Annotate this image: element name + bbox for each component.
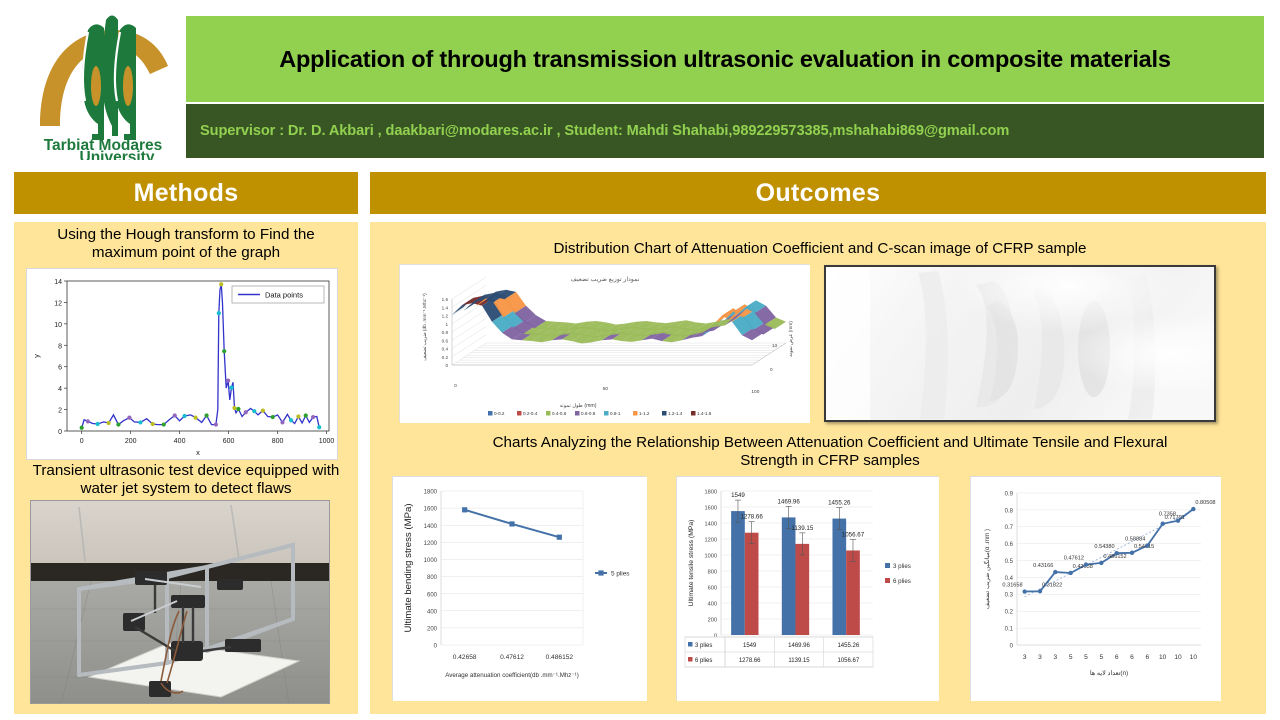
svg-text:10: 10 [1190, 654, 1198, 661]
svg-text:0.43166: 0.43166 [1033, 563, 1053, 569]
cscan-image [824, 265, 1216, 422]
outcomes-caption-distribution: Distribution Chart of Attenuation Coeffi… [380, 240, 1260, 258]
svg-text:5 plies: 5 plies [611, 571, 629, 578]
tensile-stress-chart: 0200400600800100012001400160018001549146… [676, 476, 938, 700]
svg-text:1: 1 [445, 322, 448, 327]
svg-text:5: 5 [1069, 654, 1073, 661]
svg-text:0.6: 0.6 [1005, 542, 1014, 548]
svg-text:0.6-0.8: 0.6-0.8 [581, 411, 596, 416]
svg-text:0.31822: 0.31822 [1042, 582, 1062, 588]
svg-text:5: 5 [1084, 654, 1088, 661]
svg-text:14: 14 [54, 279, 62, 286]
svg-text:3: 3 [1053, 654, 1057, 661]
svg-text:1455.26: 1455.26 [837, 643, 859, 649]
svg-text:0.7358: 0.7358 [1159, 512, 1176, 518]
svg-text:0.54615: 0.54615 [1134, 544, 1154, 550]
section-title-methods: Methods [134, 179, 239, 208]
svg-text:1200: 1200 [424, 541, 438, 547]
svg-text:12: 12 [54, 300, 62, 307]
svg-text:0.54380: 0.54380 [1094, 544, 1114, 550]
svg-text:1469.96: 1469.96 [788, 643, 810, 649]
svg-text:ضریب تضعیف (db .mm⁻¹.Mhz⁻¹): ضریب تضعیف (db .mm⁻¹.Mhz⁻¹) [422, 293, 428, 361]
svg-text:0.2-0.4: 0.2-0.4 [523, 411, 538, 416]
svg-text:1400: 1400 [705, 521, 717, 527]
svg-text:0.486152: 0.486152 [546, 654, 574, 661]
svg-text:2: 2 [58, 408, 62, 415]
svg-text:0.8-1: 0.8-1 [610, 411, 621, 416]
methods-caption-device: Transient ultrasonic test device equippe… [16, 462, 356, 498]
poster-header: Tarbiat Modares University Application o… [0, 0, 1280, 162]
svg-text:200: 200 [427, 626, 438, 632]
svg-text:0.4: 0.4 [1005, 576, 1014, 582]
svg-text:50: 50 [603, 386, 609, 392]
svg-text:600: 600 [427, 592, 438, 598]
section-header-methods: Methods [14, 172, 358, 214]
svg-text:1139.15: 1139.15 [791, 525, 813, 532]
svg-text:0.8: 0.8 [442, 330, 449, 335]
svg-text:10: 10 [1174, 654, 1182, 661]
svg-text:1000: 1000 [705, 553, 717, 559]
svg-text:0: 0 [80, 438, 84, 445]
svg-text:0: 0 [58, 429, 62, 436]
svg-text:0.2: 0.2 [1005, 610, 1014, 616]
svg-text:0.4: 0.4 [442, 347, 449, 352]
svg-text:1469.96: 1469.96 [777, 498, 800, 505]
svg-text:6: 6 [58, 365, 62, 372]
svg-text:0: 0 [454, 383, 457, 389]
svg-text:0.9: 0.9 [1005, 491, 1014, 497]
svg-text:1800: 1800 [705, 489, 717, 495]
svg-text:0-0.2: 0-0.2 [494, 411, 505, 416]
svg-text:Ultimate tensile stress (MPa): Ultimate tensile stress (MPa) [688, 520, 695, 607]
svg-text:1056.67: 1056.67 [842, 531, 865, 538]
svg-text:x: x [196, 448, 200, 457]
svg-text:0: 0 [770, 367, 773, 372]
section-title-outcomes: Outcomes [756, 179, 881, 208]
svg-text:0.80508: 0.80508 [1195, 500, 1215, 506]
hough-transform-chart: 0246810121402004006008001000xyData point… [26, 268, 338, 460]
svg-text:10: 10 [1159, 654, 1167, 661]
svg-text:1056.67: 1056.67 [837, 658, 859, 664]
svg-text:0: 0 [445, 363, 448, 368]
attenuation-distribution-surface-chart: نمودار توزيع ضريب تضعيف00.20.40.60.811.2… [399, 264, 809, 422]
outcomes-caption-relationship: Charts Analyzing the Relationship Betwee… [480, 434, 1180, 470]
svg-text:1.2: 1.2 [442, 314, 449, 319]
svg-text:y: y [32, 354, 41, 358]
svg-text:1200: 1200 [705, 537, 717, 543]
svg-text:عرض نمونه (mm): عرض نمونه (mm) [788, 321, 794, 357]
svg-text:1278.66: 1278.66 [739, 658, 761, 664]
svg-text:100: 100 [751, 389, 759, 395]
svg-text:3: 3 [1038, 654, 1042, 661]
svg-text:0.47612: 0.47612 [1064, 556, 1084, 562]
cscan-image-svg [826, 267, 1216, 422]
svg-text:6: 6 [1145, 654, 1149, 661]
tensile-chart-svg: 0200400600800100012001400160018001549146… [677, 477, 939, 701]
section-header-outcomes: Outcomes [370, 172, 1266, 214]
svg-text:0.1: 0.1 [1005, 627, 1014, 633]
svg-text:1800: 1800 [424, 490, 438, 496]
svg-text:1000: 1000 [424, 558, 438, 564]
svg-text:6 plies: 6 plies [893, 578, 911, 585]
svg-text:0.2: 0.2 [442, 355, 449, 360]
svg-text:0.42658: 0.42658 [1073, 564, 1093, 570]
svg-text:1139.15: 1139.15 [788, 658, 810, 664]
atten-chart-svg: 00.10.20.30.40.50.60.70.80.90.316580.318… [971, 477, 1221, 701]
svg-text:1600: 1600 [705, 505, 717, 511]
svg-text:نمودار توزيع ضريب تضعيف: نمودار توزيع ضريب تضعيف [571, 276, 640, 283]
svg-text:0.7: 0.7 [1005, 525, 1014, 531]
svg-text:6 plies: 6 plies [695, 658, 712, 664]
svg-text:میانگین ضریب تضعیف(α .mm ): میانگین ضریب تضعیف(α .mm ) [983, 529, 991, 609]
svg-text:8: 8 [58, 343, 62, 350]
attenuation-vs-plies-chart: 00.10.20.30.40.50.60.70.80.90.316580.318… [970, 476, 1220, 700]
svg-text:1400: 1400 [424, 524, 438, 530]
svg-text:0.486152: 0.486152 [1103, 554, 1126, 560]
svg-text:400: 400 [427, 609, 438, 615]
svg-text:0.5: 0.5 [1005, 559, 1014, 565]
svg-text:طول نمونه (mm): طول نمونه (mm) [560, 403, 597, 409]
poster-title-bar: Application of through transmission ultr… [186, 16, 1264, 102]
svg-text:تعداد لایه ها(n): تعداد لایه ها(n) [1090, 670, 1128, 677]
university-logo: Tarbiat Modares University [22, 8, 184, 160]
svg-text:1.6: 1.6 [442, 297, 449, 302]
svg-text:1549: 1549 [731, 492, 745, 499]
svg-text:3: 3 [1023, 654, 1027, 661]
svg-text:3 plies: 3 plies [893, 563, 911, 570]
svg-text:0.42658: 0.42658 [453, 654, 477, 661]
bending-stress-chart: 0200400600800100012001400160018000.42658… [392, 476, 646, 700]
svg-text:3 plies: 3 plies [695, 643, 712, 649]
svg-text:6: 6 [1115, 654, 1119, 661]
poster-title: Application of through transmission ultr… [279, 44, 1171, 74]
poster-authors: Supervisor : Dr. D. Akbari , daakbari@mo… [200, 123, 1009, 139]
svg-text:0.47612: 0.47612 [500, 654, 524, 661]
svg-text:600: 600 [708, 585, 717, 591]
svg-text:0.6: 0.6 [442, 338, 449, 343]
bending-chart-svg: 0200400600800100012001400160018000.42658… [393, 477, 647, 701]
svg-text:400: 400 [708, 601, 717, 607]
svg-text:600: 600 [223, 438, 235, 445]
svg-text:1278.66: 1278.66 [740, 514, 763, 521]
svg-text:1600: 1600 [424, 507, 438, 513]
svg-text:0.8: 0.8 [1005, 508, 1014, 514]
svg-text:5: 5 [1099, 654, 1103, 661]
svg-text:0.4-0.6: 0.4-0.6 [552, 411, 567, 416]
svg-text:13: 13 [772, 343, 778, 348]
surface-chart-svg: نمودار توزيع ضريب تضعيف00.20.40.60.811.2… [400, 265, 810, 423]
hough-chart-svg: 0246810121402004006008001000xyData point… [27, 269, 339, 461]
svg-text:Ultimate bending stress (MPa): Ultimate bending stress (MPa) [403, 503, 414, 632]
svg-text:4: 4 [58, 386, 62, 393]
svg-text:1455.26: 1455.26 [828, 500, 851, 507]
svg-text:Data points: Data points [265, 291, 303, 300]
svg-text:1.4-1.6: 1.4-1.6 [697, 411, 712, 416]
ultrasonic-test-device-photo [30, 500, 330, 704]
svg-text:6: 6 [1130, 654, 1134, 661]
svg-text:200: 200 [708, 617, 717, 623]
device-photo-svg [31, 501, 330, 704]
svg-text:0.31658: 0.31658 [1002, 583, 1022, 589]
svg-text:1.4: 1.4 [442, 305, 449, 310]
logo-graphic: Tarbiat Modares University [22, 8, 184, 160]
svg-text:0.58884: 0.58884 [1125, 537, 1145, 543]
svg-text:1.2-1.4: 1.2-1.4 [668, 411, 683, 416]
svg-text:1549: 1549 [743, 643, 757, 649]
svg-text:400: 400 [174, 438, 186, 445]
svg-text:800: 800 [427, 575, 438, 581]
svg-text:0.3: 0.3 [1005, 593, 1014, 599]
logo-text-line2: University [80, 149, 155, 160]
svg-text:10: 10 [54, 322, 62, 329]
methods-caption-hough: Using the Hough transform to Find the ma… [20, 226, 352, 262]
svg-text:800: 800 [708, 569, 717, 575]
poster-author-bar: Supervisor : Dr. D. Akbari , daakbari@mo… [186, 104, 1264, 158]
svg-text:Average attenuation coefficien: Average attenuation coefficient(db .mm⁻¹… [445, 672, 579, 679]
svg-text:1000: 1000 [319, 438, 335, 445]
svg-text:1-1.2: 1-1.2 [639, 411, 650, 416]
svg-text:800: 800 [272, 438, 284, 445]
svg-text:200: 200 [125, 438, 137, 445]
